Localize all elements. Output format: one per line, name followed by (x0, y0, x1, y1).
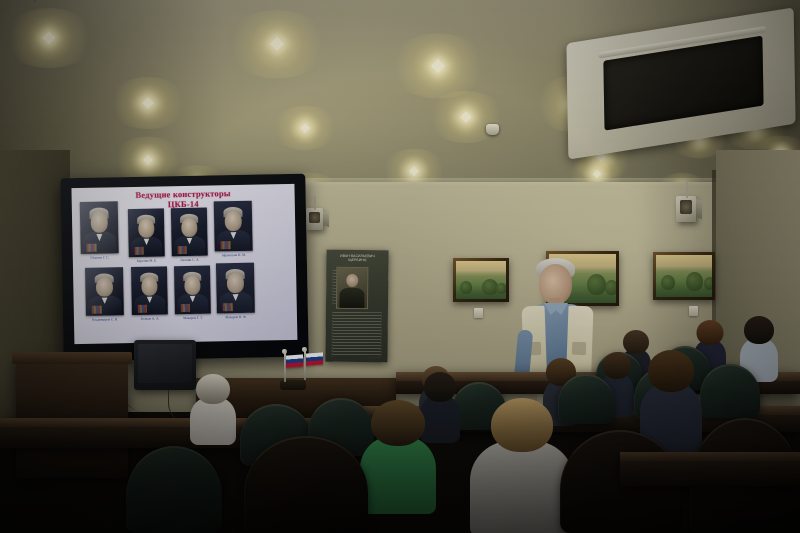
portrait-face (91, 212, 108, 233)
portrait-medals (221, 241, 231, 249)
person-body (470, 440, 574, 533)
portrait-medals (177, 246, 187, 254)
landscape-painting-left (453, 258, 509, 302)
audience-person (190, 374, 236, 452)
audience-person (470, 398, 574, 533)
memorial-portrait (336, 267, 368, 309)
person-body (360, 436, 436, 514)
speaker-side (696, 199, 702, 219)
display-screen[interactable]: Ведущие конструкторы ЦКБ-14 Шпагин Г. С.… (71, 184, 297, 344)
person-head (491, 398, 553, 452)
slide-portrait (216, 263, 255, 314)
slide-portrait (171, 208, 208, 257)
portrait-face (141, 276, 157, 295)
vest-pocket (572, 342, 586, 355)
painting-sky (656, 255, 712, 268)
painting-canvas (656, 255, 712, 297)
portrait-medals (180, 304, 190, 312)
smoke-detector-icon (486, 124, 499, 135)
memorial-panel-title: ИВАН ВАСИЛЬЕВИЧ ЩЕРБИНО (326, 254, 388, 263)
person-head (648, 350, 694, 392)
audience-chair (700, 364, 760, 418)
painting-tree (704, 277, 712, 290)
wall-outlet (689, 306, 698, 316)
painting-canvas (456, 261, 506, 299)
portrait-medals (134, 247, 144, 255)
person-head (196, 374, 230, 404)
person-head (371, 400, 425, 446)
conference-hall-photo: Ведущие конструкторы ЦКБ-14 Шпагин Г. С.… (0, 0, 800, 533)
painting-sky (456, 261, 506, 273)
wall-speaker-left (306, 208, 323, 230)
painting-tree (605, 280, 616, 295)
wall-speaker-right (676, 196, 696, 222)
portrait-face (138, 218, 154, 237)
slide-portrait (85, 267, 124, 316)
painting-tree (496, 283, 506, 294)
slide-portrait-caption: Макаров Н. Ф. (209, 315, 263, 320)
portrait-face (184, 275, 200, 294)
speaker-grille-icon (680, 200, 693, 214)
portrait-face (96, 277, 113, 297)
portrait-medals (92, 306, 102, 314)
speaker-cable-left (314, 196, 316, 210)
person-body (190, 397, 236, 445)
slide-portrait-caption: Шпагин Г. С. (73, 255, 127, 260)
flag-cloth (306, 352, 323, 365)
person-head (603, 352, 631, 379)
lectern-top (12, 352, 132, 364)
audience-chair (126, 446, 222, 533)
desk-surface (620, 452, 800, 461)
presentation-display[interactable]: Ведущие конструкторы ЦКБ-14 Шпагин Г. С.… (60, 174, 308, 362)
portrait-face (227, 273, 244, 293)
slide-portrait-caption: Афанасьев Н. М. (207, 253, 261, 258)
painting-tree (460, 281, 472, 294)
person-head (697, 320, 724, 345)
slide-portrait (214, 201, 253, 252)
memorial-panel: ИВАН ВАСИЛЬЕВИЧ ЩЕРБИНО (325, 250, 388, 363)
portrait-medals (223, 303, 233, 311)
portrait-face (346, 273, 358, 287)
slide-portrait (131, 266, 168, 315)
audience-desk (620, 452, 800, 486)
speaker-grille-icon (309, 212, 320, 223)
portrait-face (225, 211, 242, 231)
slide-portrait-caption: Люшин С. А. (164, 257, 216, 262)
flag-cloth (286, 354, 303, 367)
painting-tree (661, 275, 675, 290)
wall-outlet (474, 308, 483, 318)
audience-person (360, 400, 436, 524)
person-head (424, 372, 456, 402)
painting-tree (686, 272, 703, 291)
monitor-screen (138, 344, 192, 383)
portrait-medals (87, 243, 97, 252)
slide-portrait (80, 201, 119, 254)
portrait-face (181, 217, 197, 236)
memorial-title-line2: ЩЕРБИНО (348, 258, 366, 262)
landscape-painting-right (653, 252, 715, 300)
slide-portrait (128, 208, 165, 257)
memorial-biography-text (331, 312, 381, 358)
person-head (744, 316, 774, 344)
portrait-torso (339, 288, 364, 308)
speaker-cable-right (686, 182, 688, 198)
portrait-medals (137, 305, 147, 313)
slide-portrait (174, 266, 211, 315)
speaker-side (323, 211, 329, 227)
